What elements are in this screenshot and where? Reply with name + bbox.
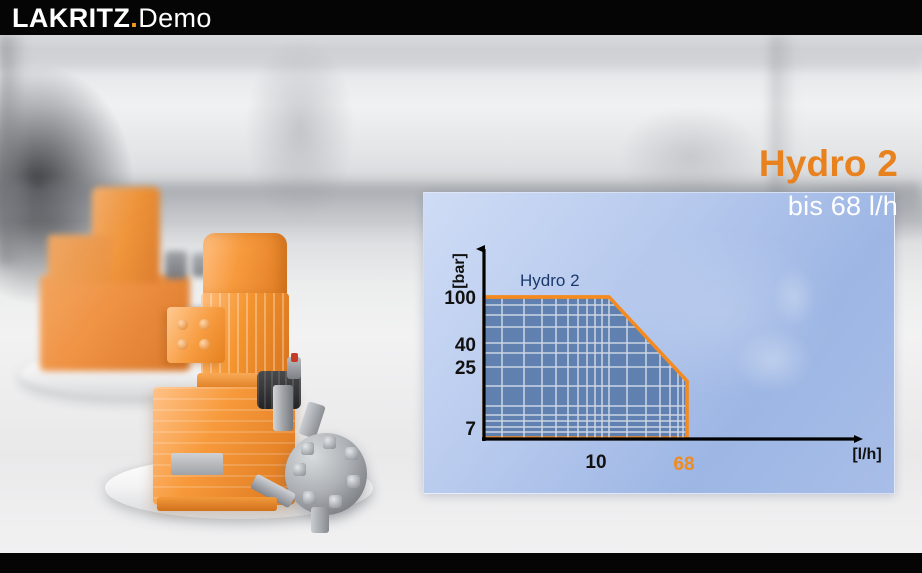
pump-nameplate	[171, 453, 223, 475]
pump-head	[285, 433, 367, 515]
dosing-pump-foreground	[105, 225, 465, 545]
y-tick-25: 25	[455, 358, 477, 379]
pump-terminal-box	[167, 307, 225, 363]
brand-dot-icon: .	[130, 3, 138, 33]
performance-chart-panel: 100 40 25 7 10 68 [bar] [l/h] Hydro 2	[423, 192, 895, 494]
y-tick-7: 7	[465, 419, 476, 440]
brand-logo[interactable]: LAKRITZ.Demo	[12, 3, 212, 33]
brand-name-secondary: Demo	[138, 3, 212, 33]
page-title: Hydro 2	[640, 143, 898, 185]
pump-cooling-ribs	[153, 393, 161, 499]
pump-motor-cap	[203, 233, 287, 297]
x-tick-10: 10	[585, 452, 606, 473]
brand-name-primary: LAKRITZ	[12, 3, 130, 33]
y-tick-100: 100	[444, 288, 476, 309]
performance-chart: 100 40 25 7 10 68 [bar] [l/h] Hydro 2	[424, 193, 894, 493]
pump-terminal-box	[48, 235, 112, 283]
headline-block: Hydro 2 bis 68 l/h	[640, 143, 898, 223]
x-axis-unit-label: [l/h]	[852, 446, 881, 463]
bottom-letterbox-bar	[0, 553, 922, 573]
product-slide: Hydro 2 bis 68 l/h	[0, 0, 922, 573]
pump-drain-fitting	[311, 507, 329, 533]
pump-indicator	[291, 353, 298, 362]
product-subtitle: bis 68 l/h	[640, 189, 898, 223]
pump-cylinder	[273, 385, 293, 431]
curve-label: Hydro 2	[520, 271, 580, 290]
pump-foot	[157, 497, 277, 511]
y-axis-unit-label: [bar]	[451, 253, 468, 289]
y-tick-40: 40	[455, 335, 476, 356]
x-tick-68: 68	[673, 454, 694, 475]
